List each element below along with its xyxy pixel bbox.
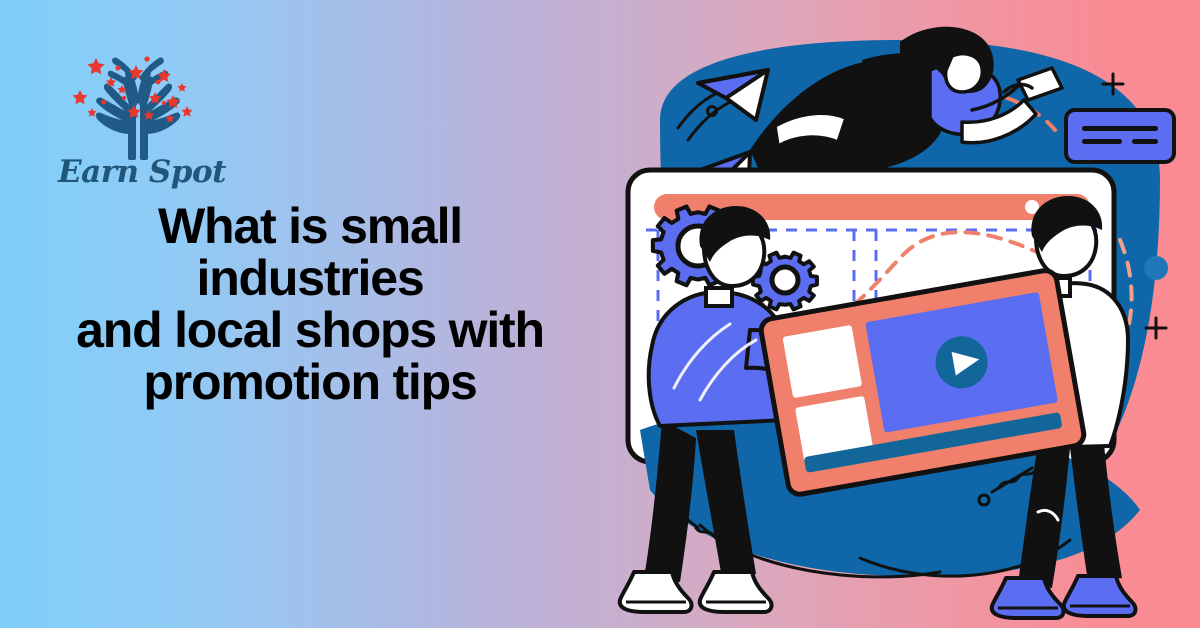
- chat-message-card: [1066, 110, 1174, 162]
- headline-line-1: What is small: [0, 200, 620, 252]
- brand-logo[interactable]: Earn Spot: [58, 48, 218, 208]
- promotional-banner: Earn Spot What is small industries and l…: [0, 0, 1200, 628]
- banner-left-column: Earn Spot What is small industries and l…: [0, 0, 620, 628]
- team-promoting-video-content-illustration: [600, 0, 1200, 628]
- headline-line-3: and local shops with: [0, 304, 620, 356]
- dot-decoration-right: [1144, 256, 1168, 280]
- hands-tree-with-stars-logo-icon: [58, 48, 218, 160]
- headline-line-2: industries: [0, 252, 620, 304]
- brand-wordmark: Earn Spot: [58, 154, 218, 190]
- headline-line-4: promotion tips: [0, 356, 620, 408]
- page-title: What is small industries and local shops…: [0, 200, 620, 408]
